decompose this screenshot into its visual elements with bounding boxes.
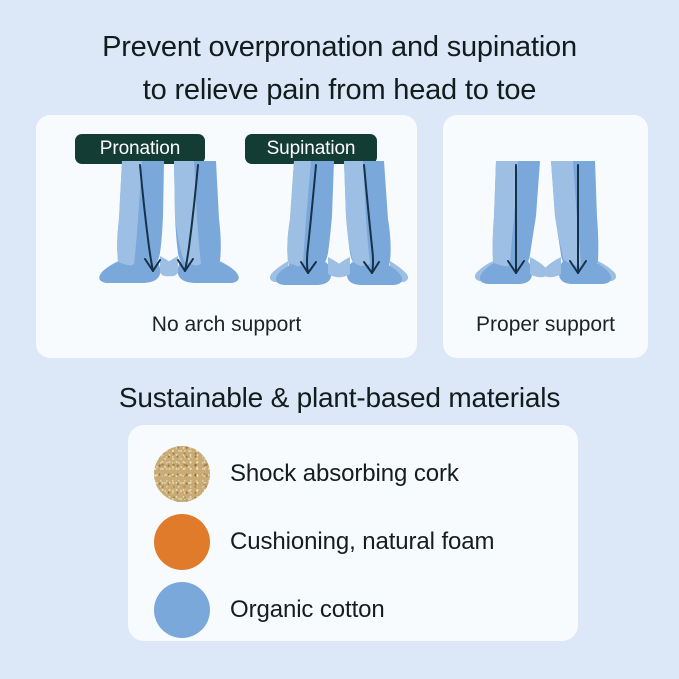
list-item: Cushioning, natural foam bbox=[154, 514, 494, 570]
page-title-line-1: Prevent overpronation and supination bbox=[0, 26, 679, 69]
foam-swatch bbox=[154, 514, 210, 570]
pronation-legs-illustration bbox=[94, 161, 244, 291]
list-item: Organic cotton bbox=[154, 582, 385, 638]
material-label: Cushioning, natural foam bbox=[230, 527, 494, 557]
leg-support-right bbox=[543, 161, 616, 284]
leg-supination-left bbox=[270, 161, 346, 285]
material-label: Organic cotton bbox=[230, 595, 385, 625]
material-label: Shock absorbing cork bbox=[230, 459, 459, 489]
caption-no-arch-support: No arch support bbox=[36, 312, 417, 338]
badge-supination: Supination bbox=[245, 134, 377, 164]
materials-heading: Sustainable & plant-based materials bbox=[0, 381, 679, 415]
proper-support-card: Proper support bbox=[443, 115, 648, 358]
no-arch-support-card: Pronation Supination bbox=[36, 115, 417, 358]
badge-pronation: Pronation bbox=[75, 134, 205, 164]
cork-swatch bbox=[154, 446, 210, 502]
supination-legs-illustration bbox=[264, 161, 414, 291]
leg-supination-right bbox=[332, 161, 408, 285]
leg-pronation-right bbox=[160, 161, 238, 283]
caption-proper-support: Proper support bbox=[443, 312, 648, 338]
proper-support-legs-illustration bbox=[468, 161, 623, 291]
list-item: Shock absorbing cork bbox=[154, 446, 459, 502]
leg-support-left bbox=[475, 161, 548, 284]
materials-card: Shock absorbing cork Cushioning, natural… bbox=[128, 425, 578, 641]
page-title: Prevent overpronation and supination to … bbox=[0, 26, 679, 112]
page-title-line-2: to relieve pain from head to toe bbox=[0, 69, 679, 112]
cotton-swatch bbox=[154, 582, 210, 638]
